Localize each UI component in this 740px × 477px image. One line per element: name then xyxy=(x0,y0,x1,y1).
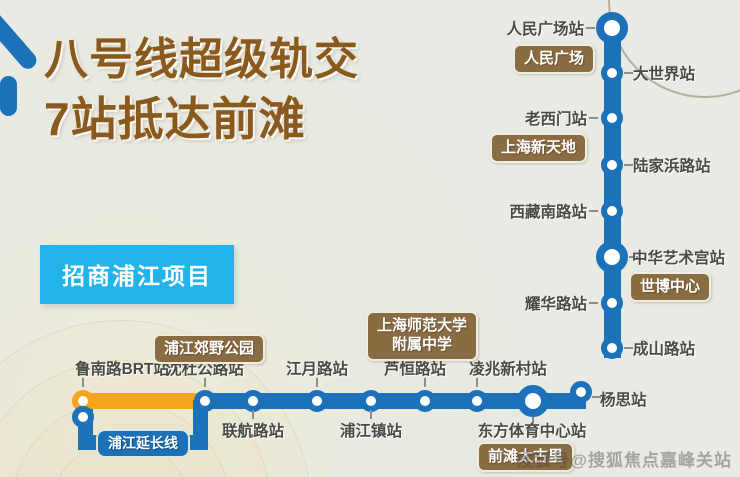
station-dot-china-art-museum[interactable] xyxy=(596,241,628,273)
tick-yaohua-road xyxy=(589,302,598,304)
station-label-yangsi: 杨思站 xyxy=(600,388,647,410)
station-label-lujiabang-road: 陆家浜路站 xyxy=(633,154,711,176)
station-dot-lianhang-road[interactable] xyxy=(242,390,264,412)
station-dot-south-xizang-road[interactable] xyxy=(601,200,623,222)
station-dot-luheng-road[interactable] xyxy=(414,390,436,412)
station-label-china-art-museum: 中华艺术宫站 xyxy=(632,246,725,268)
tick-lujiabang-road xyxy=(624,164,633,166)
branch-label-badge: 浦江延长线 xyxy=(96,429,190,458)
station-label-oriental-sports-center: 东方体育中心站 xyxy=(478,419,587,441)
tick-shendu-highway xyxy=(204,378,206,387)
station-dot-extension-terminus[interactable] xyxy=(72,406,94,428)
tick-lingzhao-xincun xyxy=(476,378,478,387)
poi-badge-normal-university: 上海师范大学 附属中学 xyxy=(366,311,478,361)
station-dot-jiangyue-road[interactable] xyxy=(306,390,328,412)
watermark-text: 搜狐号@搜狐焦点嘉峰关站 xyxy=(516,446,732,471)
tick-south-xizang-road xyxy=(589,210,598,212)
station-dot-chengshan-road[interactable] xyxy=(601,337,623,359)
station-label-pujiang-town: 浦江镇站 xyxy=(340,419,402,441)
line-segment-diagonal-corner xyxy=(0,4,40,73)
tick-lunan-road-brt xyxy=(82,378,84,387)
station-dot-laoximen[interactable] xyxy=(601,107,623,129)
station-dot-lingzhao-xincun[interactable] xyxy=(466,390,488,412)
station-dot-yaohua-road[interactable] xyxy=(601,292,623,314)
station-dot-dashijie[interactable] xyxy=(601,62,623,84)
station-dot-shendu-highway[interactable] xyxy=(194,390,216,412)
poi-badge-country-park: 浦江郊野公园 xyxy=(153,334,265,364)
station-label-south-xizang-road: 西藏南路站 xyxy=(509,200,587,222)
poi-badge-xintiandi: 上海新天地 xyxy=(490,133,587,163)
poi-badge-normal-university-line-1: 上海师范大学 xyxy=(377,316,467,335)
tick-laoximen xyxy=(589,117,598,119)
station-label-yaohua-road: 耀华路站 xyxy=(525,292,587,314)
tick-dashijie xyxy=(624,72,633,74)
station-label-lingzhao-xincun: 凌兆新村站 xyxy=(469,357,547,379)
metro-line-infographic: 八号线超级轨交 7站抵达前滩 招商浦江项目 浦江延长线 人民广场站 人民广场 大… xyxy=(0,0,740,477)
station-label-lianhang-road: 联航路站 xyxy=(222,419,284,441)
line-segment-orange-branch xyxy=(78,393,210,409)
station-dot-yangsi[interactable] xyxy=(570,381,592,403)
tick-lianhang-road xyxy=(252,410,254,419)
station-label-dashijie: 大世界站 xyxy=(633,62,695,84)
project-badge: 招商浦江项目 xyxy=(40,245,234,304)
line-segment-corner-riser xyxy=(0,76,17,116)
tick-pujiang-town xyxy=(370,410,372,419)
poi-badge-renmin-square: 人民广场 xyxy=(513,44,595,74)
headline-block: 八号线超级轨交 7站抵达前滩 xyxy=(44,34,474,148)
station-label-jiangyue-road: 江月路站 xyxy=(286,357,348,379)
station-dot-renmin-square[interactable] xyxy=(596,12,628,44)
station-dot-lujiabang-road[interactable] xyxy=(601,154,623,176)
station-label-renmin-square: 人民广场站 xyxy=(506,17,584,39)
headline-line-2: 7站抵达前滩 xyxy=(44,90,474,148)
tick-renmin-square xyxy=(586,27,595,29)
poi-badge-normal-university-line-2: 附属中学 xyxy=(377,335,467,354)
station-label-laoximen: 老西门站 xyxy=(525,107,587,129)
headline-line-1: 八号线超级轨交 xyxy=(44,34,474,86)
tick-jiangyue-road xyxy=(316,378,318,387)
station-dot-oriental-sports-center[interactable] xyxy=(517,385,549,417)
station-label-chengshan-road: 成山路站 xyxy=(633,337,695,359)
tick-chengshan-road xyxy=(624,347,633,349)
station-dot-pujiang-town[interactable] xyxy=(360,390,382,412)
tick-luheng-road xyxy=(424,378,426,387)
poi-badge-expo-center: 世博中心 xyxy=(629,272,711,302)
